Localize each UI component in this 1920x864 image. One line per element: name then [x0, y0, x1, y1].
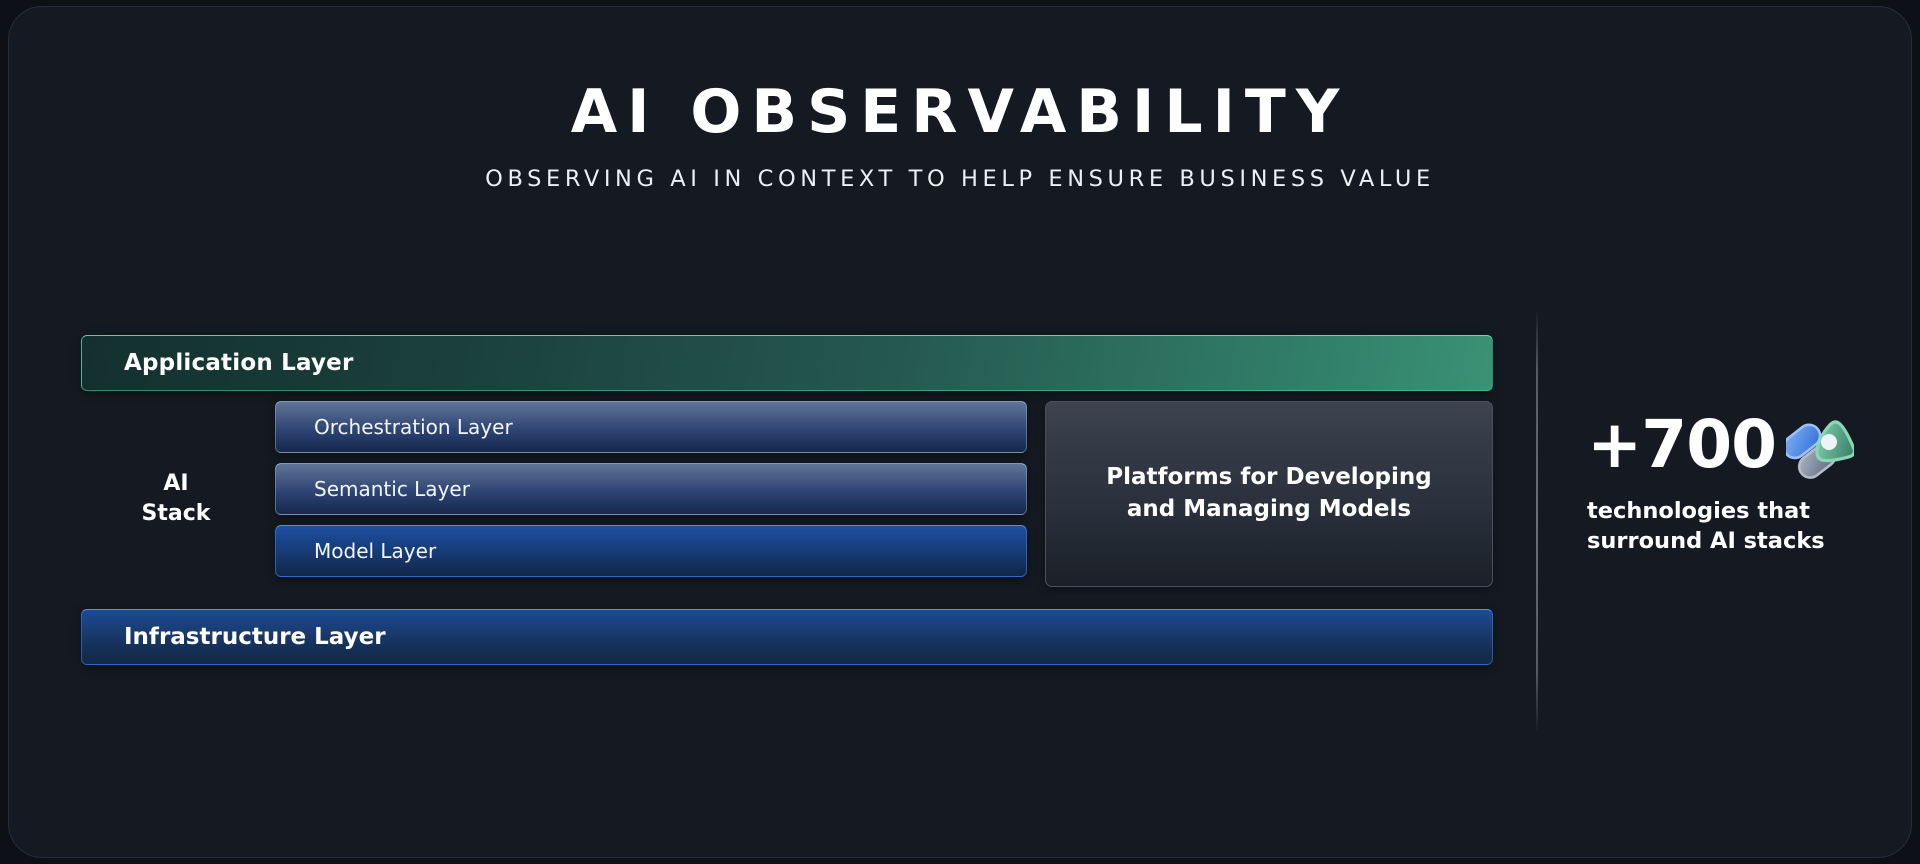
- stat-headline-row: +700: [1587, 411, 1887, 479]
- stat-caption-line2: surround AI stacks: [1587, 527, 1887, 557]
- semantic-layer-bar[interactable]: Semantic Layer: [275, 463, 1027, 515]
- stat-number: +700: [1587, 412, 1776, 478]
- ai-stack-region: AI Stack Orchestration Layer Semantic La…: [81, 401, 1521, 599]
- infrastructure-layer-label: Infrastructure Layer: [82, 624, 386, 650]
- platforms-box-line1: Platforms for Developing: [1106, 462, 1431, 494]
- inner-layers-column: Orchestration Layer Semantic Layer Model…: [275, 401, 1027, 577]
- platforms-box-line2: and Managing Models: [1106, 494, 1431, 526]
- main-panel: AI OBSERVABILITY OBSERVING AI IN CONTEXT…: [8, 6, 1912, 858]
- application-layer-bar[interactable]: Application Layer: [81, 335, 1493, 391]
- layered-stack-logo-icon: [1786, 411, 1854, 479]
- application-layer-label: Application Layer: [82, 350, 354, 376]
- platforms-box-text: Platforms for Developing and Managing Mo…: [1106, 462, 1431, 525]
- model-layer-label: Model Layer: [276, 539, 436, 563]
- ai-stack-diagram: Application Layer AI Stack Orchestration…: [81, 335, 1521, 665]
- ai-stack-label-line2: Stack: [115, 499, 237, 529]
- ai-stack-group-label: AI Stack: [115, 469, 237, 530]
- semantic-layer-label: Semantic Layer: [276, 477, 470, 501]
- stat-caption: technologies that surround AI stacks: [1587, 497, 1887, 557]
- infrastructure-layer-bar[interactable]: Infrastructure Layer: [81, 609, 1493, 665]
- orchestration-layer-label: Orchestration Layer: [276, 415, 513, 439]
- platforms-box[interactable]: Platforms for Developing and Managing Mo…: [1045, 401, 1493, 587]
- page-title: AI OBSERVABILITY: [9, 81, 1911, 144]
- stat-panel: +700: [1587, 411, 1887, 557]
- header: AI OBSERVABILITY OBSERVING AI IN CONTEXT…: [9, 7, 1911, 192]
- ai-stack-label-line1: AI: [115, 469, 237, 499]
- model-layer-bar[interactable]: Model Layer: [275, 525, 1027, 577]
- orchestration-layer-bar[interactable]: Orchestration Layer: [275, 401, 1027, 453]
- stat-caption-line1: technologies that: [1587, 497, 1887, 527]
- page-subtitle: OBSERVING AI IN CONTEXT TO HELP ENSURE B…: [9, 166, 1911, 192]
- vertical-divider: [1536, 311, 1538, 731]
